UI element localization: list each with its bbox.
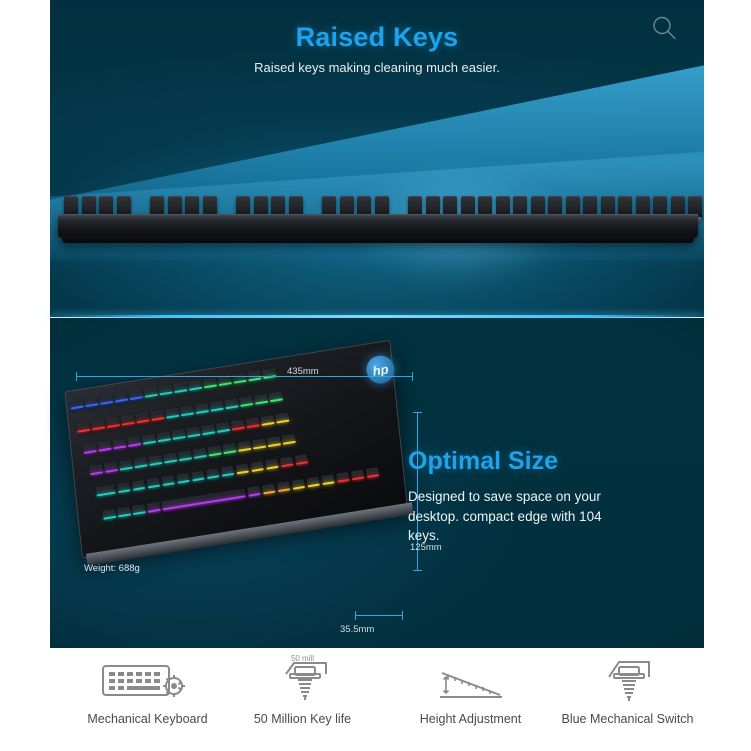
keycap bbox=[188, 380, 202, 393]
keycap bbox=[178, 450, 192, 463]
keycap bbox=[232, 373, 246, 386]
keycap bbox=[201, 424, 215, 437]
keycap bbox=[235, 464, 249, 477]
keycap bbox=[158, 385, 172, 398]
keycap bbox=[267, 436, 281, 449]
keycap bbox=[97, 441, 111, 454]
keycap bbox=[252, 439, 266, 452]
keycap bbox=[180, 405, 194, 418]
feature-key-life: 50 mill 50 Million Key life bbox=[215, 655, 390, 726]
keycap bbox=[83, 443, 97, 456]
keycap bbox=[112, 438, 126, 451]
keycap bbox=[195, 403, 209, 416]
keycap bbox=[131, 480, 145, 493]
optimal-size-title: Optimal Size bbox=[408, 447, 558, 476]
keycap bbox=[133, 457, 147, 470]
depth-dimension-cap-left bbox=[355, 611, 356, 620]
keycap bbox=[99, 394, 113, 407]
keycap bbox=[231, 420, 245, 433]
keycap bbox=[186, 427, 200, 440]
keycap bbox=[135, 413, 149, 426]
keycap bbox=[121, 415, 135, 428]
keycap bbox=[84, 396, 98, 409]
keycap bbox=[282, 434, 296, 447]
height-dimension-cap-top bbox=[413, 412, 422, 413]
keycap bbox=[210, 401, 224, 414]
keycap bbox=[191, 471, 205, 484]
keycap bbox=[129, 389, 143, 402]
feature-mechanical-keyboard: Mechanical Keyboard bbox=[60, 655, 235, 726]
keycap bbox=[280, 457, 294, 470]
keycap bbox=[262, 484, 276, 497]
keycap bbox=[222, 443, 236, 456]
keycap bbox=[163, 453, 177, 466]
keycap bbox=[247, 486, 261, 499]
width-dimension-cap-right bbox=[412, 372, 413, 381]
keycap bbox=[250, 461, 264, 474]
keycap bbox=[365, 467, 379, 480]
search-icon[interactable] bbox=[650, 14, 678, 42]
height-adjustment-icon bbox=[383, 655, 558, 703]
keycap bbox=[146, 478, 160, 491]
keycap bbox=[106, 417, 120, 430]
feature-blue-switch: Blue Mechanical Switch bbox=[540, 655, 715, 726]
feature-label: Height Adjustment bbox=[383, 712, 558, 726]
depth-dimension-line bbox=[355, 615, 403, 616]
keycap bbox=[265, 459, 279, 472]
width-dimension-line bbox=[76, 376, 413, 377]
keycap bbox=[91, 420, 105, 433]
feature-label: Mechanical Keyboard bbox=[60, 712, 235, 726]
raised-keys-section: Raised Keys Raised keys making cleaning … bbox=[50, 0, 704, 317]
keycap bbox=[237, 441, 251, 454]
keycap bbox=[127, 436, 141, 449]
weight-label: Weight: 688g bbox=[84, 563, 140, 574]
page-title: Raised Keys bbox=[50, 22, 704, 53]
keycap bbox=[161, 475, 175, 488]
keycap bbox=[104, 462, 118, 475]
keycap bbox=[254, 394, 268, 407]
keycap bbox=[157, 431, 171, 444]
keyboard-side-view-image bbox=[58, 188, 698, 250]
key-life-note: 50 mill bbox=[215, 654, 390, 663]
keycap bbox=[275, 413, 289, 426]
keycap bbox=[171, 429, 185, 442]
keycap bbox=[144, 387, 158, 400]
key-switch-icon: 50 mill bbox=[215, 655, 390, 703]
depth-dimension-label: 35.5mm bbox=[340, 624, 374, 635]
keycap bbox=[165, 408, 179, 421]
keycap bbox=[193, 448, 207, 461]
page-subtitle: Raised keys making cleaning much easier. bbox=[50, 60, 704, 75]
keycap bbox=[117, 482, 131, 495]
depth-dimension-cap-right bbox=[402, 611, 403, 620]
keycap bbox=[206, 468, 220, 481]
keycap bbox=[321, 474, 335, 487]
feature-label: Blue Mechanical Switch bbox=[540, 712, 715, 726]
keycap bbox=[203, 378, 217, 391]
keycap bbox=[147, 502, 161, 515]
keycap bbox=[102, 509, 116, 522]
feature-height-adjustment: Height Adjustment bbox=[383, 655, 558, 726]
keycap bbox=[173, 382, 187, 395]
keycap bbox=[260, 415, 274, 428]
keycap bbox=[142, 434, 156, 447]
keycap bbox=[220, 466, 234, 479]
keycap bbox=[291, 479, 305, 492]
mechanical-keyboard-icon bbox=[60, 655, 235, 703]
keycap bbox=[306, 477, 320, 490]
keycap bbox=[69, 399, 83, 412]
keycap bbox=[208, 446, 222, 459]
keycap bbox=[336, 472, 350, 485]
keycap bbox=[76, 422, 90, 435]
features-section: Mechanical Keyboard 50 mill 50 Million K… bbox=[0, 655, 751, 751]
height-dimension-cap-bottom bbox=[413, 570, 422, 571]
keycap bbox=[119, 460, 133, 473]
keycap bbox=[132, 504, 146, 517]
keycap bbox=[216, 422, 230, 435]
keycap bbox=[114, 392, 128, 405]
keycap bbox=[89, 464, 103, 477]
keycap bbox=[276, 481, 290, 494]
keyboard-base bbox=[62, 236, 694, 243]
keycap bbox=[218, 375, 232, 388]
keycap bbox=[239, 396, 253, 409]
keycap bbox=[351, 470, 365, 483]
keycap bbox=[150, 410, 164, 423]
feature-label: 50 Million Key life bbox=[215, 712, 390, 726]
keycap bbox=[176, 473, 190, 486]
keycap bbox=[246, 417, 260, 430]
keycap bbox=[269, 391, 283, 404]
blue-switch-icon bbox=[540, 655, 715, 703]
keycap bbox=[117, 507, 131, 520]
width-dimension-label: 435mm bbox=[287, 366, 319, 377]
width-dimension-cap-left bbox=[76, 372, 77, 381]
keyboard-body bbox=[58, 216, 698, 238]
keycap bbox=[294, 454, 308, 467]
keycap bbox=[262, 368, 276, 381]
optimal-size-body: Designed to save space on your desktop. … bbox=[408, 487, 623, 546]
product-detail-page: Raised Keys Raised keys making cleaning … bbox=[0, 0, 751, 751]
keycap bbox=[148, 455, 162, 468]
keycap bbox=[224, 398, 238, 411]
